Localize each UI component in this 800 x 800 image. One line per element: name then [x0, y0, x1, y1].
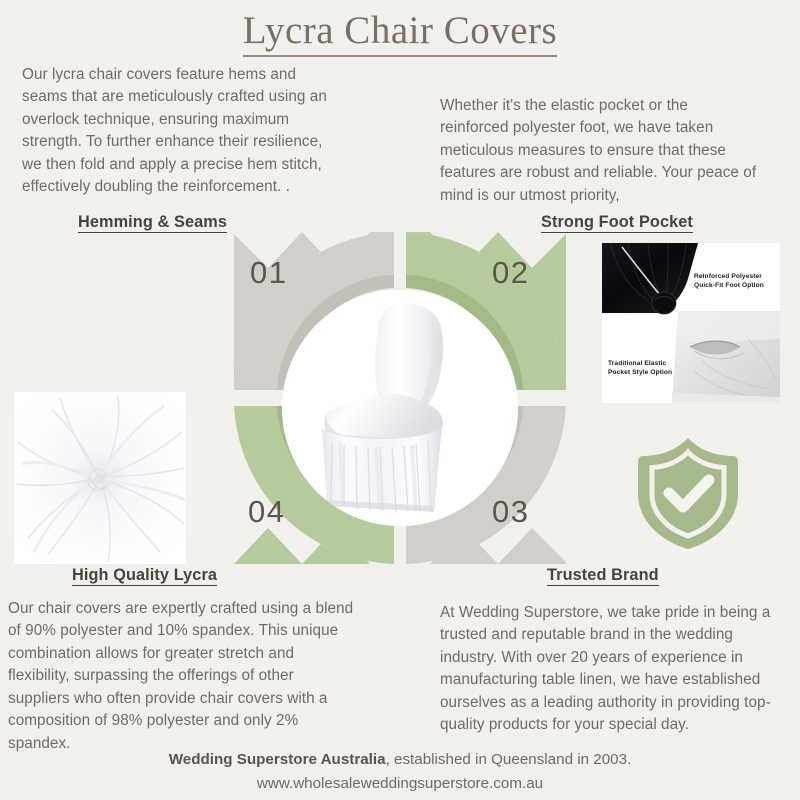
foot-pocket-label-traditional-line1: Traditional Elastic: [608, 360, 672, 369]
page-title-text: Lycra Chair Covers: [243, 11, 557, 57]
section-body-strong-foot-pocket: Whether it's the elastic pocket or the r…: [440, 95, 760, 207]
foot-pocket-label-reinforced-line2: Quick-Fit Foot Option: [694, 282, 764, 291]
quadrant-number-01: 01: [250, 255, 287, 291]
chair-cover-photo: [282, 290, 518, 526]
section-heading-trusted-brand-label: Trusted Brand: [547, 566, 659, 586]
foot-pocket-label-reinforced: Reinforced Polyester Quick-Fit Foot Opti…: [694, 273, 764, 291]
foot-pocket-label-reinforced-line1: Reinforced Polyester: [694, 273, 764, 282]
section-heading-high-quality-lycra-label: High Quality Lycra: [72, 566, 217, 586]
section-heading-high-quality-lycra: High Quality Lycra: [72, 566, 217, 585]
fabric-swatch-photo: [14, 392, 186, 564]
foot-pocket-label-traditional-line2: Pocket Style Option: [608, 369, 672, 378]
infographic-page: Lycra Chair Covers Our lycra chair cover…: [0, 0, 800, 800]
section-heading-trusted-brand: Trusted Brand: [547, 566, 659, 585]
quadrant-number-04: 04: [248, 494, 285, 530]
section-body-high-quality-lycra: Our chair covers are expertly crafted us…: [8, 598, 354, 755]
foot-pocket-label-traditional: Traditional Elastic Pocket Style Option: [608, 360, 672, 378]
footer-brand: Wedding Superstore Australia, establishe…: [169, 751, 632, 768]
page-title: Lycra Chair Covers: [0, 8, 800, 57]
footer-tagline: , established in Queensland in 2003.: [386, 751, 632, 768]
quadrant-number-02: 02: [492, 255, 529, 291]
footer-url[interactable]: www.wholesaleweddingsuperstore.com.au: [0, 772, 800, 796]
footer-brand-name: Wedding Superstore Australia: [169, 751, 386, 768]
section-body-trusted-brand: At Wedding Superstore, we take pride in …: [440, 602, 785, 737]
footer: Wedding Superstore Australia, establishe…: [0, 748, 800, 797]
section-body-hemming-seams: Our lycra chair covers feature hems and …: [22, 64, 334, 199]
shield-check-icon: [633, 434, 743, 552]
foot-pocket-photo: Reinforced Polyester Quick-Fit Foot Opti…: [602, 243, 780, 403]
